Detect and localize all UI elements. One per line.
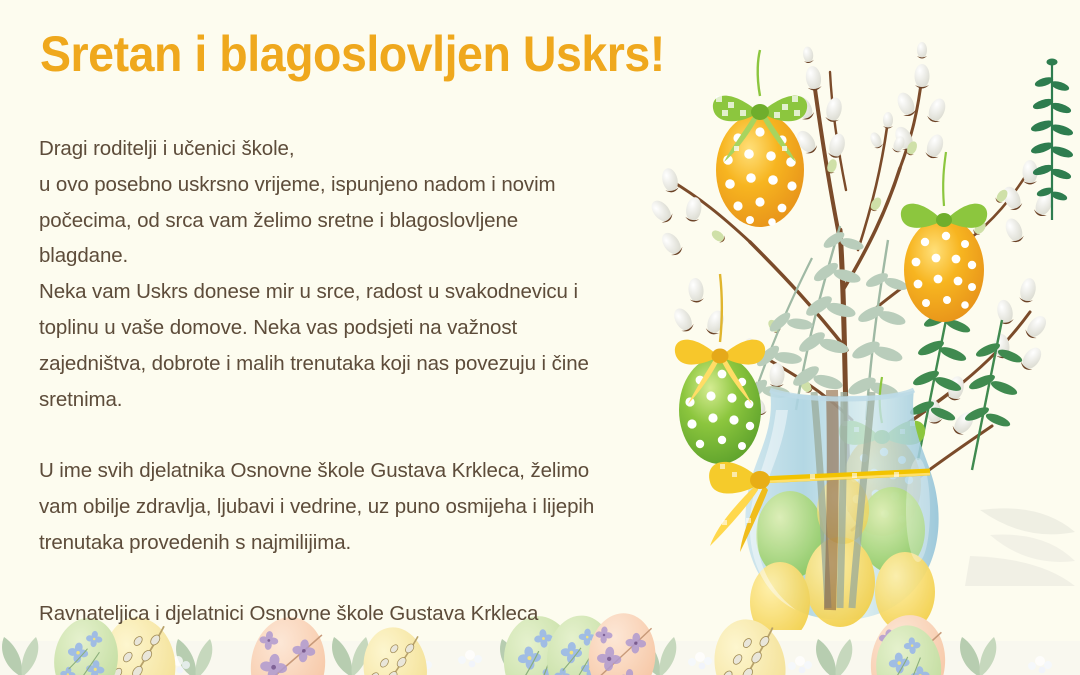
hanging-egg-yellow-right <box>901 152 987 322</box>
willow-catkins <box>640 42 1060 440</box>
fern-sprigs <box>742 59 1074 470</box>
line: Dragi roditelji i učenici škole, <box>39 137 294 160</box>
paragraph-signature: Ravnateljica i djelatnici Osnovne škole … <box>39 596 679 632</box>
green-bow-vase <box>839 421 925 445</box>
hanging-egg-yellow-vase <box>839 377 925 536</box>
paragraph-gap <box>39 561 679 597</box>
paragraph-gap <box>39 417 679 453</box>
green-bow-right <box>901 204 987 228</box>
page-title: Sretan i blagoslovljen Uskrs! <box>40 25 665 83</box>
line: u ovo posebno uskrsno vrijeme, ispunjeno… <box>39 173 556 196</box>
stems-in-vase <box>814 392 872 608</box>
vase-ribbon <box>709 462 930 552</box>
line: U ime svih djelatnika Osnovne škole Gust… <box>39 459 589 482</box>
spring-buds <box>710 132 1010 395</box>
willow-branches-back <box>670 72 1030 530</box>
line: Ravnateljica i djelatnici Osnovne škole … <box>39 602 538 625</box>
line: blagdane. <box>39 244 128 267</box>
eggs-in-vase <box>750 476 935 630</box>
paragraph-wishes: U ime svih djelatnika Osnovne škole Gust… <box>39 453 679 560</box>
line: počecima, od srca vam želimo sretne i bl… <box>39 209 518 232</box>
paragraph-greeting: Dragi roditelji i učenici škole, u ovo p… <box>39 131 679 417</box>
line: Neka vam Uskrs donese mir u srce, radost… <box>39 280 578 303</box>
line: zajedništva, dobrote i malih trenutaka k… <box>39 352 589 375</box>
line: sretnima. <box>39 388 122 411</box>
hanging-egg-yellow-top <box>713 50 807 227</box>
glass-vase <box>709 390 938 630</box>
vase-shadow <box>965 508 1075 586</box>
greeting-body: Dragi roditelji i učenici škole, u ovo p… <box>39 131 679 632</box>
line: trenutaka provedenih s najmilijima. <box>39 531 351 554</box>
line: vam obilje zdravlja, ljubavi i vedrine, … <box>39 495 594 518</box>
border-foliage <box>2 637 1052 675</box>
border-haze <box>0 641 1080 675</box>
greeting-text-panel: Sretan i blagoslovljen Uskrs! Dragi rodi… <box>0 0 700 600</box>
easter-greeting-card: Sretan i blagoslovljen Uskrs! Dragi rodi… <box>0 0 1080 675</box>
green-gingham-bow <box>713 96 807 162</box>
line: toplinu u vaše domove. Neka vas podsjeti… <box>39 316 517 339</box>
